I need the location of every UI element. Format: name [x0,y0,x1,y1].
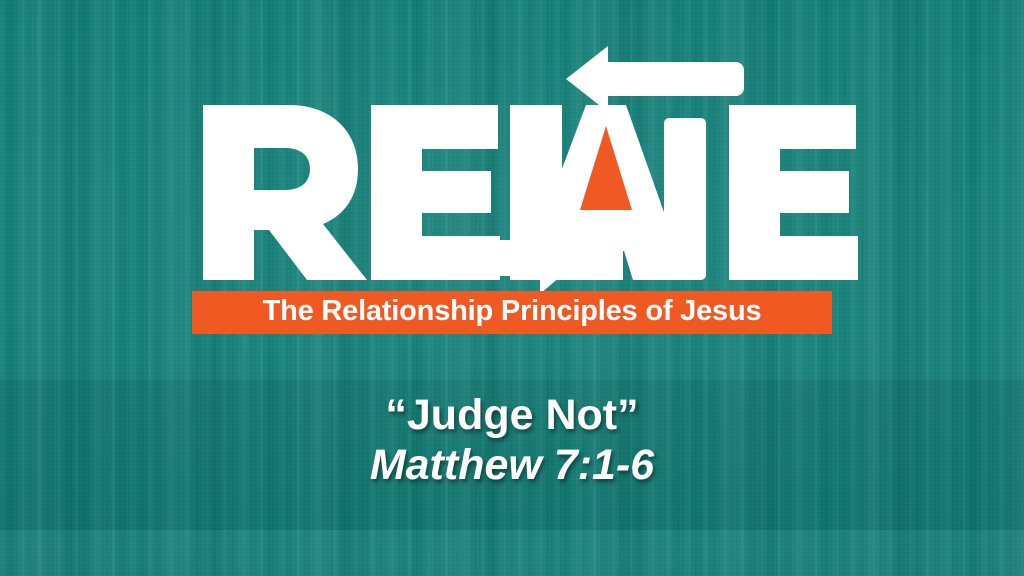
logo-letter-r [203,105,367,280]
tagline-text: The Relationship Principles of Jesus [263,297,762,328]
relate-logo [0,0,1024,340]
scripture-reference: Matthew 7:1-6 [0,442,1024,488]
tagline-bar: The Relationship Principles of Jesus [192,291,832,334]
slide-canvas: The Relationship Principles of Jesus “Ju… [0,0,1024,576]
sermon-title: “Judge Not” [0,392,1024,438]
logo-letter-t [664,118,706,280]
relate-logo-svg [0,0,1024,340]
subtitle-block: “Judge Not” Matthew 7:1-6 [0,392,1024,489]
logo-letter-e-2 [729,105,858,280]
arrow-left-icon [566,46,744,112]
